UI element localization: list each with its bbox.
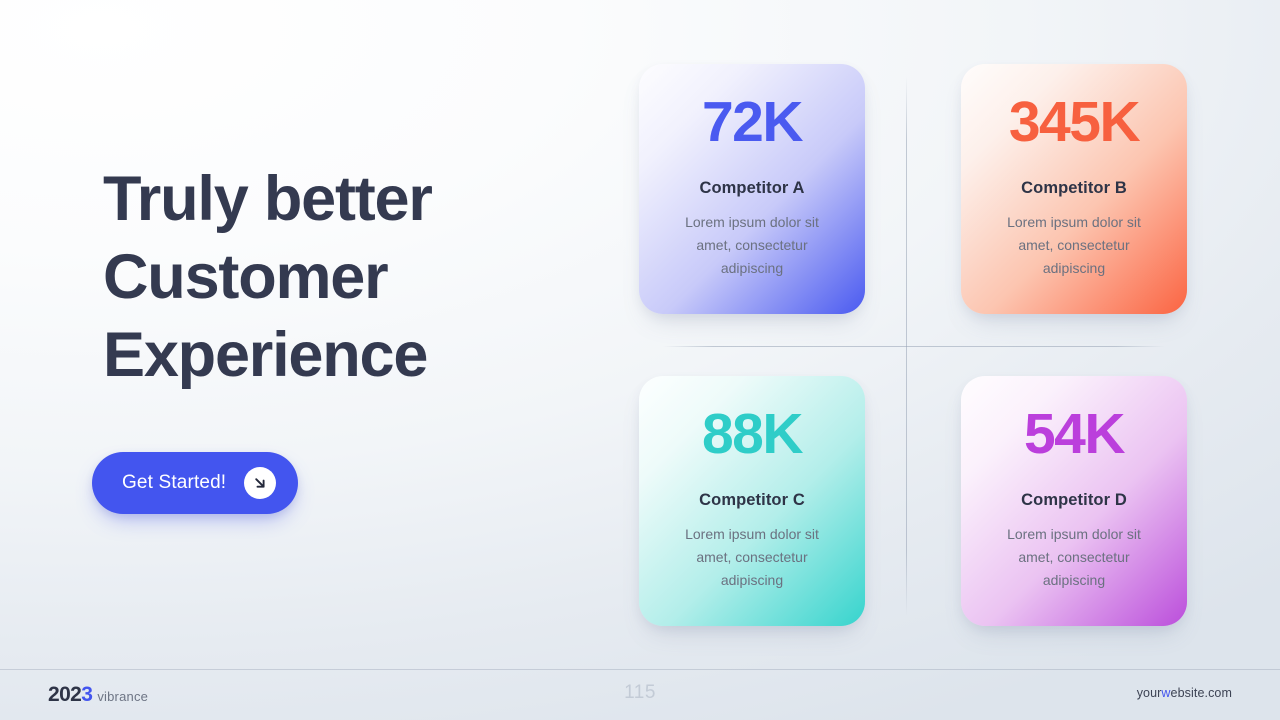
card-title: Competitor B: [981, 179, 1167, 198]
arrow-down-right-icon: [244, 467, 276, 499]
card-value: 88K: [659, 406, 845, 463]
grid-divider-horizontal: [663, 346, 1165, 347]
card-value: 54K: [981, 406, 1167, 463]
footer-divider: [0, 669, 1280, 670]
website-prefix: your: [1137, 686, 1162, 700]
website-suffix: ebsite.com: [1171, 686, 1232, 700]
hero-text-block: Truly better Customer Experience: [103, 160, 573, 394]
card-description: Lorem ipsum dolor sit amet, consectetur …: [659, 523, 845, 592]
card-title: Competitor A: [659, 179, 845, 198]
cta-wrapper: Get Started!: [92, 452, 298, 514]
competitor-card-b[interactable]: 345K Competitor B Lorem ipsum dolor sit …: [961, 64, 1187, 314]
get-started-label: Get Started!: [122, 472, 226, 494]
card-description: Lorem ipsum dolor sit amet, consectetur …: [659, 211, 845, 280]
get-started-button[interactable]: Get Started!: [92, 452, 298, 514]
card-description: Lorem ipsum dolor sit amet, consectetur …: [981, 523, 1167, 592]
competitor-card-a[interactable]: 72K Competitor A Lorem ipsum dolor sit a…: [639, 64, 865, 314]
card-value: 72K: [659, 94, 845, 151]
page-title: Truly better Customer Experience: [103, 160, 573, 394]
card-description: Lorem ipsum dolor sit amet, consectetur …: [981, 211, 1167, 280]
competitor-card-d[interactable]: 54K Competitor D Lorem ipsum dolor sit a…: [961, 376, 1187, 626]
card-value: 345K: [981, 94, 1167, 151]
competitor-card-c[interactable]: 88K Competitor C Lorem ipsum dolor sit a…: [639, 376, 865, 626]
card-title: Competitor D: [981, 491, 1167, 510]
website-link[interactable]: yourwebsite.com: [1137, 686, 1232, 700]
website-accent: w: [1161, 686, 1170, 700]
page-number: 115: [0, 682, 1280, 704]
card-title: Competitor C: [659, 491, 845, 510]
